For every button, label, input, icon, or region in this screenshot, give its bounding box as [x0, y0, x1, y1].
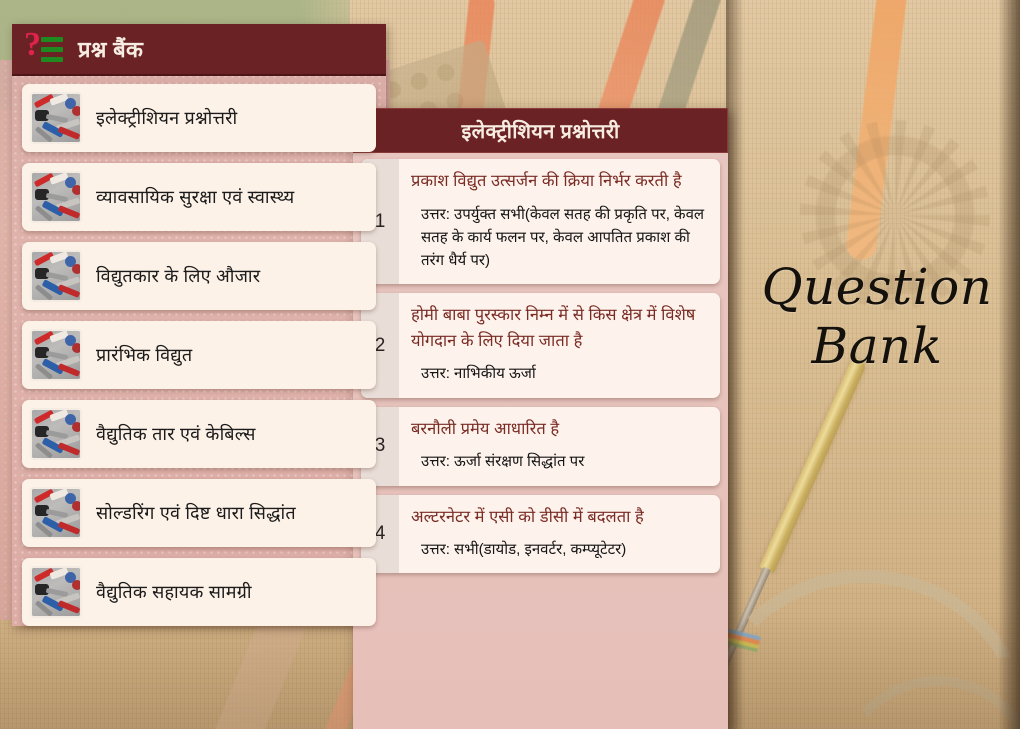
decorative-wordmark-line1: Question	[762, 258, 993, 316]
quiz-panel-title: इलेक्ट्रीशियन प्रश्नोत्तरी	[353, 108, 728, 153]
question-text: प्रकाश विद्युत उत्सर्जन की क्रिया निर्भर…	[411, 169, 710, 195]
question-text: बरनौली प्रमेय आधारित है	[411, 417, 710, 443]
question-card[interactable]: 3 बरनौली प्रमेय आधारित है उत्तर: ऊर्जा स…	[361, 407, 720, 486]
answer-text: उत्तर: ऊर्जा संरक्षण सिद्धांत पर	[411, 450, 710, 473]
decorative-wordmark: Question Bank	[752, 258, 1002, 376]
category-sidebar: ? प्रश्न बैंक	[12, 24, 386, 626]
question-card[interactable]: 2 होमी बाबा पुरस्कार निम्न में से किस क्…	[361, 293, 720, 397]
answer-text: उत्तर: उपर्युक्त सभी(केवल सतह की प्रकृति…	[411, 203, 710, 273]
tools-thumbnail	[30, 92, 82, 144]
question-content: बरनौली प्रमेय आधारित है उत्तर: ऊर्जा संर…	[399, 407, 720, 486]
list-bar-1	[41, 37, 63, 42]
question-content: अल्टरनेटर में एसी को डीसी में बदलता है उ…	[399, 495, 720, 574]
list-bar-3	[41, 57, 63, 62]
background-panel-shadow	[726, 0, 744, 729]
tools-thumbnail	[30, 487, 82, 539]
tools-thumbnail	[30, 408, 82, 460]
sidebar-item-label: इलेक्ट्रीशियन प्रश्नोत्तरी	[96, 106, 237, 130]
question-card[interactable]: 4 अल्टरनेटर में एसी को डीसी में बदलता है…	[361, 495, 720, 574]
sidebar-item-wires-and-cables[interactable]: वैद्युतिक तार एवं केबिल्स	[22, 400, 376, 468]
category-list: इलेक्ट्रीशियन प्रश्नोत्तरी व्यावसायिक	[12, 76, 386, 647]
list-bar-2	[41, 47, 63, 52]
tools-thumbnail	[30, 250, 82, 302]
question-content: प्रकाश विद्युत उत्सर्जन की क्रिया निर्भर…	[399, 159, 720, 284]
sidebar-item-electrical-accessories[interactable]: वैद्युतिक सहायक सामग्री	[22, 558, 376, 626]
decorative-wordmark-line2: Bank	[752, 317, 1002, 376]
sidebar-item-electrician-tools[interactable]: विद्युतकार के लिए औजार	[22, 242, 376, 310]
tools-thumbnail	[30, 329, 82, 381]
app-title: प्रश्न बैंक	[78, 34, 143, 64]
sidebar-item-label: विद्युतकार के लिए औजार	[96, 264, 260, 288]
question-text: होमी बाबा पुरस्कार निम्न में से किस क्षे…	[411, 303, 710, 354]
app-header: ? प्रश्न बैंक	[12, 24, 386, 76]
answer-text: उत्तर: सभी(डायोड, इनवर्टर, कम्प्यूटेटर)	[411, 538, 710, 561]
question-list-icon: ?	[24, 32, 64, 66]
answer-text: उत्तर: नाभिकीय ऊर्जा	[411, 362, 710, 385]
sidebar-item-label: व्यावसायिक सुरक्षा एवं स्वास्थ्य	[96, 185, 294, 209]
sidebar-item-basic-electricity[interactable]: प्रारंभिक विद्युत	[22, 321, 376, 389]
quiz-panel: इलेक्ट्रीशियन प्रश्नोत्तरी 1 प्रकाश विद्…	[353, 108, 728, 729]
sidebar-item-label: वैद्युतिक तार एवं केबिल्स	[96, 422, 256, 446]
sidebar-item-occupational-safety[interactable]: व्यावसायिक सुरक्षा एवं स्वास्थ्य	[22, 163, 376, 231]
question-mark-glyph: ?	[24, 28, 41, 62]
tools-thumbnail	[30, 171, 82, 223]
quiz-question-list[interactable]: 1 प्रकाश विद्युत उत्सर्जन की क्रिया निर्…	[353, 153, 728, 729]
question-content: होमी बाबा पुरस्कार निम्न में से किस क्षे…	[399, 293, 720, 397]
tools-thumbnail	[30, 566, 82, 618]
question-card[interactable]: 1 प्रकाश विद्युत उत्सर्जन की क्रिया निर्…	[361, 159, 720, 284]
sidebar-item-electrician-quiz[interactable]: इलेक्ट्रीशियन प्रश्नोत्तरी	[22, 84, 376, 152]
question-text: अल्टरनेटर में एसी को डीसी में बदलता है	[411, 505, 710, 531]
sidebar-item-label: सोल्डरिंग एवं दिष्ट धारा सिद्धांत	[96, 501, 296, 525]
app-screen: Question Bank ? प्रश्न बैंक	[0, 0, 1020, 729]
sidebar-item-label: वैद्युतिक सहायक सामग्री	[96, 580, 252, 604]
sidebar-item-label: प्रारंभिक विद्युत	[96, 343, 192, 367]
sidebar-item-soldering-dc-theory[interactable]: सोल्डरिंग एवं दिष्ट धारा सिद्धांत	[22, 479, 376, 547]
